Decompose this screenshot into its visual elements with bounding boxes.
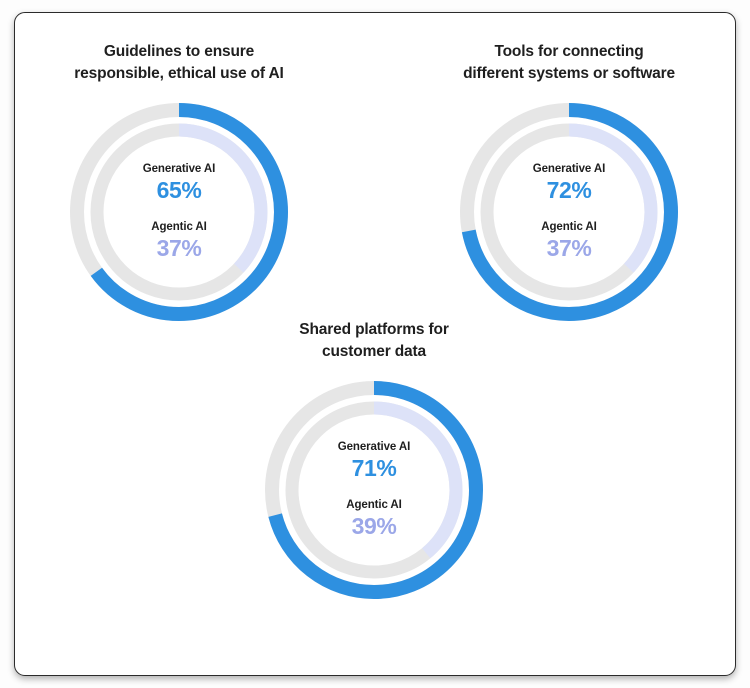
donut-center-labels: Generative AI 71% Agentic AI 39% [258, 374, 490, 606]
page-background: Guidelines to ensure responsible, ethica… [0, 0, 750, 688]
donut-chart-tools: Tools for connecting different systems o… [419, 41, 719, 328]
agentic-value: 37% [541, 235, 596, 262]
agentic-value: 37% [151, 235, 206, 262]
generative-metric: Generative AI 72% [533, 162, 605, 205]
donut-title-line-1: Shared platforms for [299, 321, 448, 338]
donut-center-labels: Generative AI 65% Agentic AI 37% [63, 96, 295, 328]
generative-label: Generative AI [533, 162, 605, 176]
generative-value: 71% [338, 455, 410, 482]
generative-label: Generative AI [143, 162, 215, 176]
donut-center-labels: Generative AI 72% Agentic AI 37% [453, 96, 685, 328]
donut-title: Guidelines to ensure responsible, ethica… [49, 41, 309, 85]
agentic-label: Agentic AI [541, 220, 596, 234]
agentic-metric: Agentic AI 37% [151, 220, 206, 263]
donut-charts-container: Guidelines to ensure responsible, ethica… [15, 13, 735, 675]
chart-card: Guidelines to ensure responsible, ethica… [14, 12, 736, 676]
agentic-metric: Agentic AI 39% [346, 498, 401, 541]
donut-title-line-2: customer data [322, 343, 426, 360]
donut-rings: Generative AI 65% Agentic AI 37% [63, 96, 295, 328]
donut-title-line-2: different systems or software [463, 65, 675, 82]
donut-title-line-1: Guidelines to ensure [104, 43, 254, 60]
donut-chart-guidelines: Guidelines to ensure responsible, ethica… [29, 41, 329, 328]
donut-title-line-1: Tools for connecting [494, 43, 643, 60]
donut-rings: Generative AI 71% Agentic AI 39% [258, 374, 490, 606]
donut-title: Tools for connecting different systems o… [439, 41, 699, 85]
agentic-metric: Agentic AI 37% [541, 220, 596, 263]
generative-value: 72% [533, 177, 605, 204]
generative-value: 65% [143, 177, 215, 204]
generative-metric: Generative AI 71% [338, 440, 410, 483]
generative-metric: Generative AI 65% [143, 162, 215, 205]
donut-chart-platforms: Shared platforms for customer data Gener… [224, 319, 524, 606]
generative-label: Generative AI [338, 440, 410, 454]
donut-title: Shared platforms for customer data [244, 319, 504, 363]
agentic-value: 39% [346, 513, 401, 540]
agentic-label: Agentic AI [151, 220, 206, 234]
donut-title-line-2: responsible, ethical use of AI [74, 65, 283, 82]
agentic-label: Agentic AI [346, 498, 401, 512]
donut-rings: Generative AI 72% Agentic AI 37% [453, 96, 685, 328]
